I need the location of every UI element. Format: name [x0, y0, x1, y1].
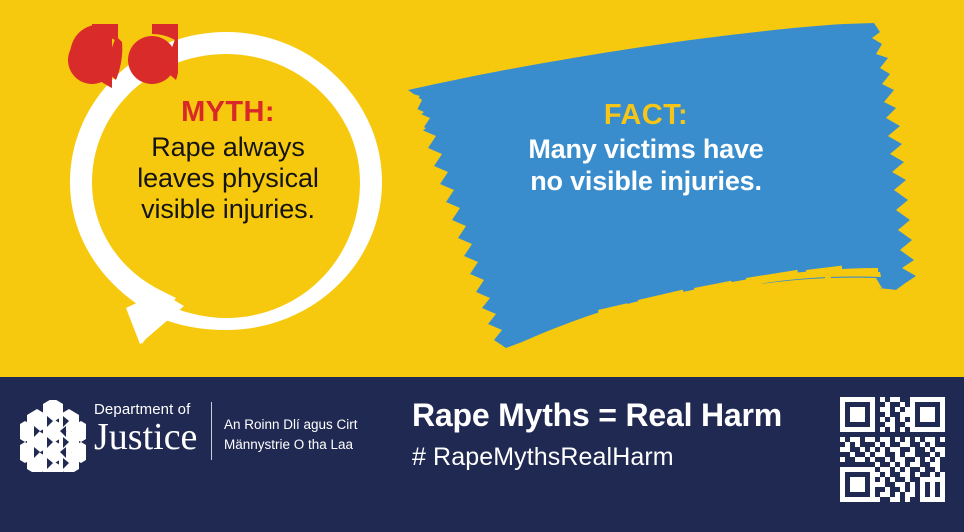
myth-text-block: MYTH: Rape always leaves physical visibl…: [96, 96, 360, 226]
myth-body-line-2: leaves physical: [96, 163, 360, 194]
poster-stage: MYTH: Rape always leaves physical visibl…: [0, 0, 964, 377]
hexagon-honeycomb-logo-icon: [20, 400, 86, 472]
campaign-slogan: Rape Myths = Real Harm: [412, 397, 782, 434]
myth-label: MYTH:: [96, 96, 360, 130]
qr-code-icon[interactable]: [840, 397, 945, 502]
fact-body-line-1: Many victims have: [470, 134, 822, 166]
myth-body-line-3: visible injuries.: [96, 194, 360, 225]
logo-alt-line-ulster-scots: Männystrie O tha Laa: [224, 435, 358, 455]
quotation-mark-icon: [66, 22, 178, 90]
myth-body-line-1: Rape always: [96, 132, 360, 163]
fact-body-line-2: no visible injuries.: [470, 166, 822, 198]
logo-justice-line: Justice: [94, 418, 210, 456]
logo-divider: [211, 402, 212, 460]
fact-label: FACT:: [470, 98, 822, 132]
fact-text-block: FACT: Many victims have no visible injur…: [470, 98, 822, 198]
logo-department-line: Department of: [94, 402, 210, 417]
logo-alt-languages: An Roinn Dlí agus Cirt Männystrie O tha …: [224, 415, 358, 454]
campaign-hashtag: # RapeMythsRealHarm: [412, 443, 674, 472]
logo-alt-line-irish: An Roinn Dlí agus Cirt: [224, 415, 358, 435]
logo-wordmark: Department of Justice: [94, 402, 210, 456]
campaign-poster: MYTH: Rape always leaves physical visibl…: [0, 0, 964, 532]
